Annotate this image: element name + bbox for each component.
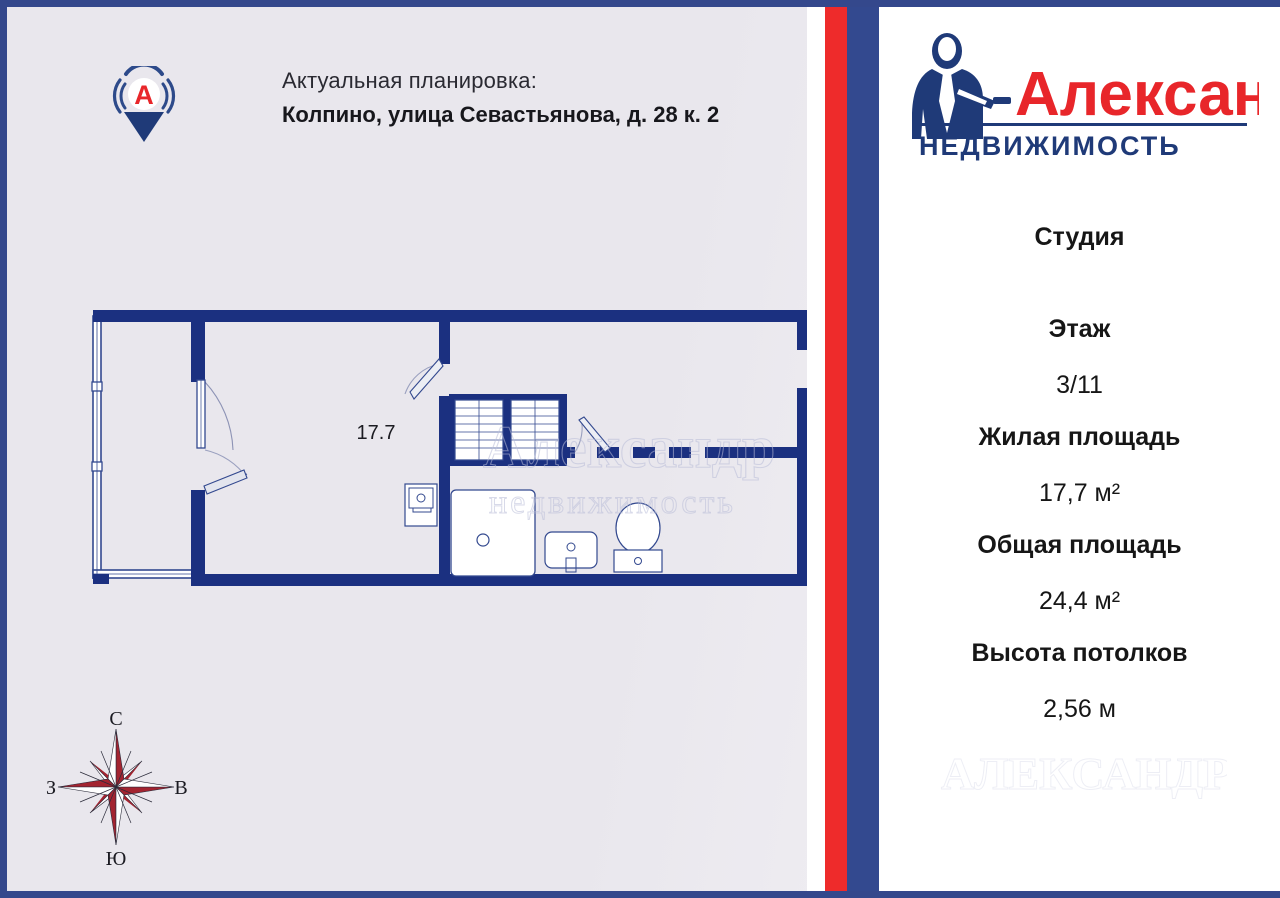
sink-icon (545, 532, 597, 572)
property-type: Студия (879, 222, 1280, 252)
brand-logo: Александр НЕДВИЖИМОСТЬ (899, 29, 1259, 169)
compass-east-label: В (174, 777, 187, 799)
total-area-label: Общая площадь (879, 530, 1280, 560)
living-area-label: Жилая площадь (879, 422, 1280, 452)
floor-label: Этаж (879, 314, 1280, 344)
floorplan-drawing: 17.7 (87, 302, 817, 602)
header-text-block: Актуальная планировка: Колпино, улица Се… (282, 64, 719, 132)
hallway-door (405, 359, 443, 399)
plan-caption: Актуальная планировка: (282, 64, 719, 98)
floor-value: 3/11 (879, 370, 1280, 400)
compass-north-label: С (109, 708, 122, 730)
wardrobe-icon (449, 394, 567, 466)
room-area-label: 17.7 (357, 422, 396, 444)
specs-list: Студия Этаж 3/11 Жилая площадь 17,7 м² О… (879, 222, 1280, 724)
balcony-door (197, 380, 233, 450)
toilet-icon (614, 503, 662, 572)
total-area-value: 24,4 м² (879, 586, 1280, 616)
floorplan-page: А Актуальная планировка: Колпино, улица … (0, 0, 1280, 898)
svg-text:А: А (134, 80, 154, 110)
balcony (92, 310, 199, 584)
ceiling-height-value: 2,56 м (879, 694, 1280, 724)
plan-pane: А Актуальная планировка: Колпино, улица … (7, 7, 887, 891)
plan-address: Колпино, улица Севастьянова, д. 28 к. 2 (282, 98, 719, 132)
info-pane: Александр НЕДВИЖИМОСТЬ Студия Этаж 3/11 … (879, 7, 1280, 891)
ceiling-height-label: Высота потолков (879, 638, 1280, 668)
compass-rose: С В Ю З (29, 699, 204, 874)
washer-icon (405, 484, 437, 526)
plan-header: А Актуальная планировка: Колпино, улица … (107, 62, 807, 152)
living-area-value: 17,7 м² (879, 478, 1280, 508)
bathtub-icon (451, 490, 535, 576)
svg-text:НЕДВИЖИМОСТЬ: НЕДВИЖИМОСТЬ (919, 131, 1181, 161)
svg-text:Александр: Александр (1015, 60, 1259, 129)
compass-west-label: З (46, 777, 56, 799)
compass-south-label: Ю (106, 848, 127, 870)
interior-door-main (204, 450, 247, 494)
map-pin-icon: А (112, 66, 176, 144)
bathroom-door (575, 417, 610, 452)
